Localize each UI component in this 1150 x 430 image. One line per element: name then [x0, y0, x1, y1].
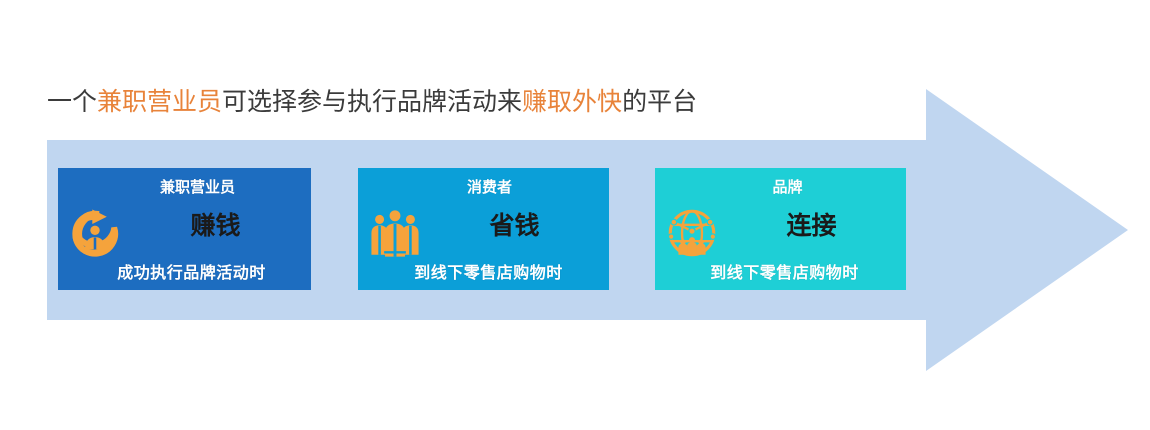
card-title: 兼职营业员 [58, 176, 311, 197]
headline-highlight-2: 赚取外快 [522, 88, 622, 116]
card-title: 消费者 [358, 176, 609, 197]
card-footer-label: 到线下零售店购物时 [358, 259, 609, 283]
headline-highlight-1: 兼职营业员 [97, 88, 222, 116]
card-main-label: 省钱 [420, 210, 609, 242]
card-title: 品牌 [655, 176, 906, 197]
card-footer-label: 成功执行品牌活动时 [58, 259, 311, 283]
card-footer-label: 到线下零售店购物时 [655, 259, 906, 283]
card-part-time-salesperson[interactable]: 兼职营业员 赚钱 成功执行品牌活动时 [58, 168, 311, 290]
headline-segment-2: 可选择参与执行品牌活动来 [222, 88, 522, 116]
card-main-label: 赚钱 [120, 210, 311, 242]
headline-segment-1: 一个 [47, 88, 97, 116]
card-consumer[interactable]: 消费者 省钱 到线下零售店购物时 [358, 168, 609, 290]
slide-canvas: 一个兼职营业员可选择参与执行品牌活动来赚取外快的平台 兼职营业员 赚钱 成功执行… [0, 0, 1150, 430]
card-main-label: 连接 [717, 210, 906, 242]
headline-segment-3: 的平台 [622, 88, 697, 116]
page-title: 一个兼职营业员可选择参与执行品牌活动来赚取外快的平台 [47, 85, 697, 119]
card-brand[interactable]: 品牌 连接 到线下零售店购物时 [655, 168, 906, 290]
three-people-icon [366, 204, 424, 262]
globe-network-people-icon [663, 204, 721, 262]
person-circular-arrow-icon [66, 204, 124, 262]
